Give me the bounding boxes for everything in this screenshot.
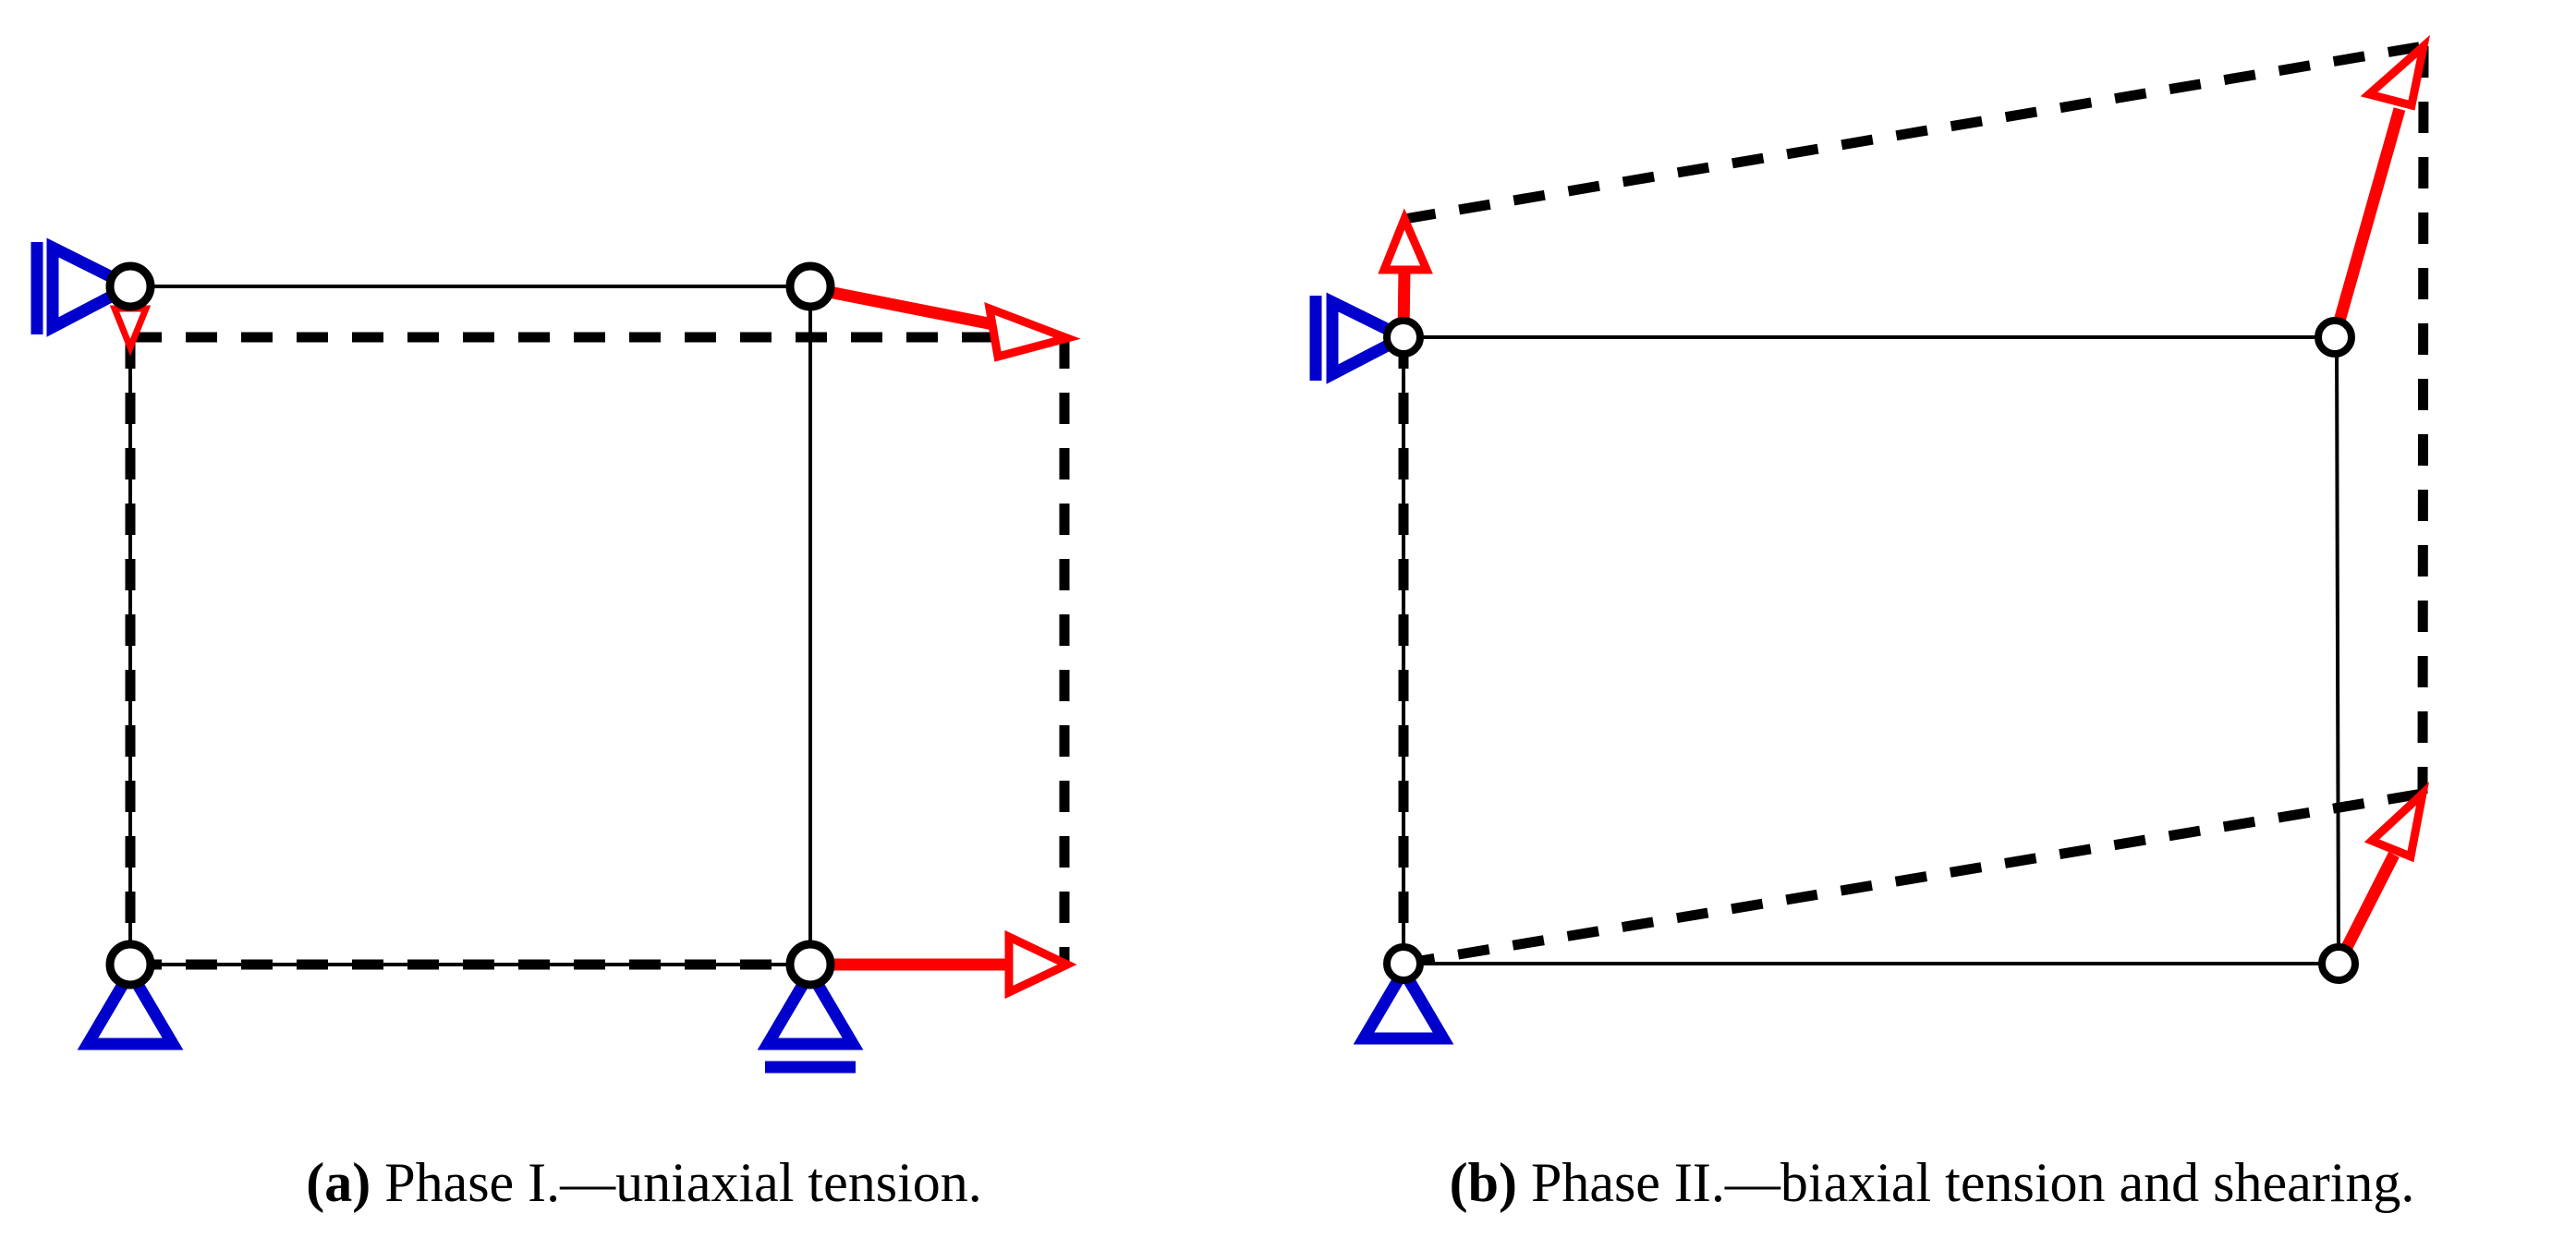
node-top-right <box>2318 321 2351 354</box>
deformed-shape-b <box>1403 46 2424 964</box>
panel-phase-i: (a) Phase I.—uniaxial tension. <box>0 0 1288 1238</box>
member-right <box>2337 337 2339 964</box>
node-top-left <box>110 266 151 307</box>
node-bottom-right <box>790 944 831 985</box>
node-bottom-left <box>110 944 151 985</box>
caption-phase-i: (a) Phase I.—uniaxial tension. <box>0 1138 1288 1238</box>
nodes-a <box>110 266 831 985</box>
panel-phase-ii: (b) Phase II.—biaxial tension and sheari… <box>1288 0 2576 1238</box>
caption-text-a: Phase I.—uniaxial tension. <box>371 1152 982 1213</box>
node-bottom-left <box>1387 947 1420 980</box>
caption-tag-b: (b) <box>1450 1152 1517 1213</box>
deformed-edge-top <box>1404 46 2424 219</box>
load-tension-arrow-bottom-right-a <box>810 937 1067 992</box>
diagram-phase-ii <box>1288 0 2576 1146</box>
deformed-edge-right <box>2423 46 2424 794</box>
deformed-edge-bottom <box>1403 794 2423 964</box>
diagram-phase-i <box>0 0 1288 1146</box>
node-top-right <box>790 266 831 307</box>
undeformed-shape-a <box>130 286 810 965</box>
node-top-left <box>1387 321 1420 354</box>
undeformed-shape-b <box>1403 337 2339 964</box>
load-tension-arrow-top-right-a <box>810 288 1067 357</box>
caption-text-b: Phase II.—biaxial tension and shearing. <box>1517 1152 2414 1213</box>
two-phase-load-case-figure: (a) Phase I.—uniaxial tension. <box>0 0 2576 1238</box>
load-tension-arrow-top-right-b <box>2335 46 2424 337</box>
deformed-shape-a <box>130 337 1064 965</box>
caption-phase-ii: (b) Phase II.—biaxial tension and sheari… <box>1288 1138 2576 1238</box>
caption-tag-a: (a) <box>306 1152 371 1213</box>
node-bottom-right <box>2322 947 2355 980</box>
load-tension-arrow-bottom-right-b <box>2339 794 2423 964</box>
